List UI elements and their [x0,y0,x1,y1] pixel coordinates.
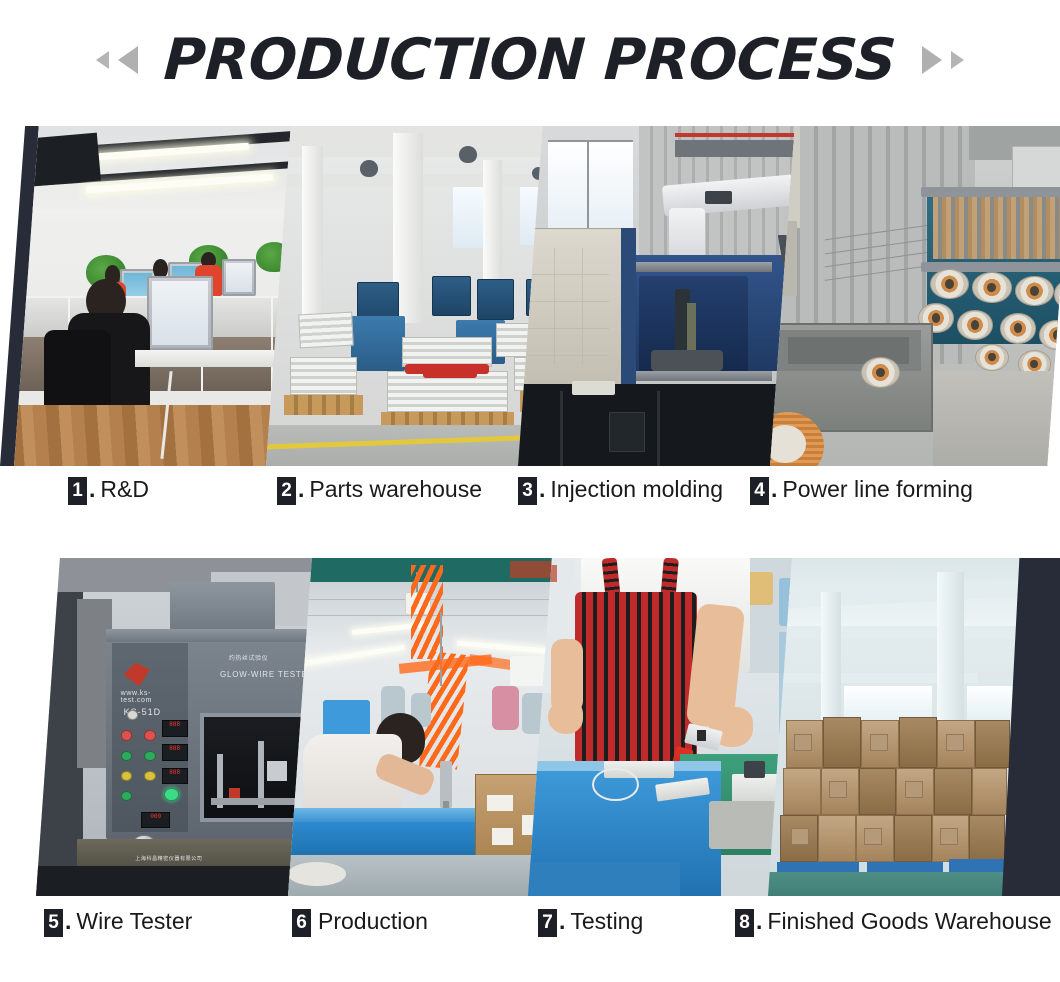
step-number-badge-1: 1 [68,477,87,505]
machine-readout: 000 [141,812,170,829]
step-dot-4: . [771,476,777,503]
production-process-page: PRODUCTION PROCESS [0,0,1060,982]
step-number-badge-7: 7 [538,909,557,937]
step-number-badge-2: 2 [277,477,296,505]
caption-row-1: 1 . R&D 2 . Parts warehouse 3 . Injectio… [0,476,1060,520]
step-dot-5: . [65,908,71,935]
caption-step-2: 2 . Parts warehouse [277,476,482,506]
step-dot-3: . [539,476,545,503]
step-label-1: R&D [100,476,149,503]
triangle-right-large-icon [922,46,942,74]
page-header: PRODUCTION PROCESS [0,0,1060,120]
caption-step-3: 3 . Injection molding [518,476,723,506]
process-image-4-power-line-forming [770,126,1060,466]
step-number-badge-8: 8 [735,909,754,937]
step-number-badge-6: 6 [292,909,311,937]
process-row-1 [0,126,1060,466]
triangle-left-large-icon [118,46,138,74]
caption-step-7: 7 . Testing [538,908,643,938]
step-number-badge-4: 4 [750,477,769,505]
step-dot-7: . [559,908,565,935]
step-dot-1: . [89,476,95,503]
triangle-right-small-icon [951,51,964,69]
caption-step-4: 4 . Power line forming [750,476,973,506]
caption-step-1: 1 . R&D [68,476,149,506]
step-number-badge-3: 3 [518,477,537,505]
triangle-left-small-icon [96,51,109,69]
step-dot-2: . [298,476,304,503]
caption-step-5: 5 . Wire Tester [44,908,192,938]
step-label-8: Finished Goods Warehouse [767,908,1051,935]
caption-step-8: 8 . Finished Goods Warehouse [735,908,1052,938]
caption-step-6: 6 Production [292,908,428,938]
step-dot-8: . [756,908,762,935]
process-image-5-wire-tester: www.ks-test.com KS-51D 灼热丝试验仪 GLOW-WIRE … [36,558,328,896]
page-title: PRODUCTION PROCESS [163,32,898,89]
machine-title-label: GLOW-WIRE TESTER [220,670,314,679]
step-label-6: Production [318,908,428,935]
step-label-4: Power line forming [782,476,972,503]
caption-row-2: 5 . Wire Tester 6 Production 7 . Testing… [0,908,1060,952]
process-row-2: www.ks-test.com KS-51D 灼热丝试验仪 GLOW-WIRE … [0,558,1060,896]
step-number-badge-5: 5 [44,909,63,937]
left-arrow-group [96,46,138,74]
right-arrow-group [922,46,964,74]
step-label-7: Testing [570,908,643,935]
step-label-2: Parts warehouse [309,476,482,503]
step-label-5: Wire Tester [76,908,192,935]
step-label-3: Injection molding [550,476,723,503]
